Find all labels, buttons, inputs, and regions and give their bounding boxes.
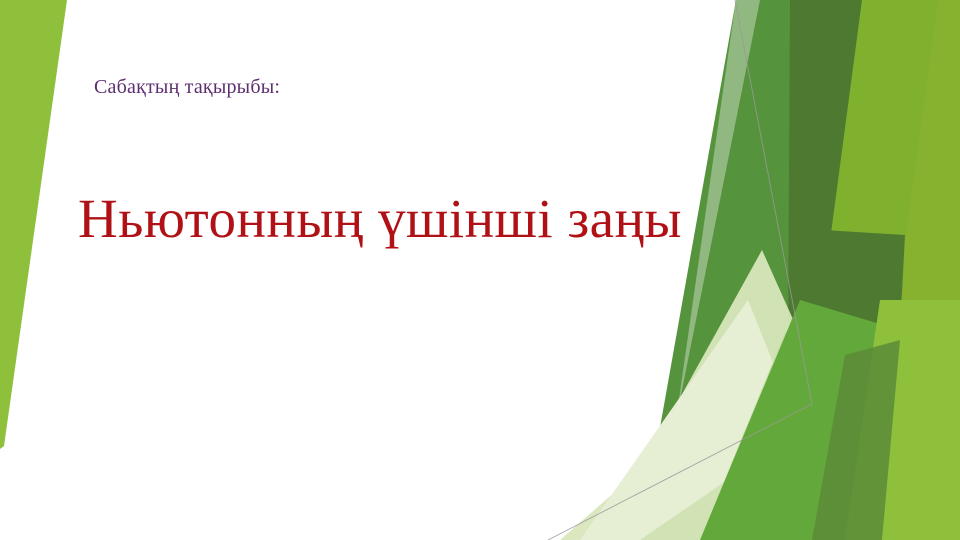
slide-title: Ньютонның үшінші заңы	[0, 186, 760, 252]
presentation-slide: Сабақтың тақырыбы: Ньютонның үшінші заңы	[0, 0, 960, 540]
slide-subtitle: Сабақтың тақырыбы:	[94, 74, 280, 100]
slide-text-layer: Сабақтың тақырыбы: Ньютонның үшінші заңы	[0, 0, 960, 540]
